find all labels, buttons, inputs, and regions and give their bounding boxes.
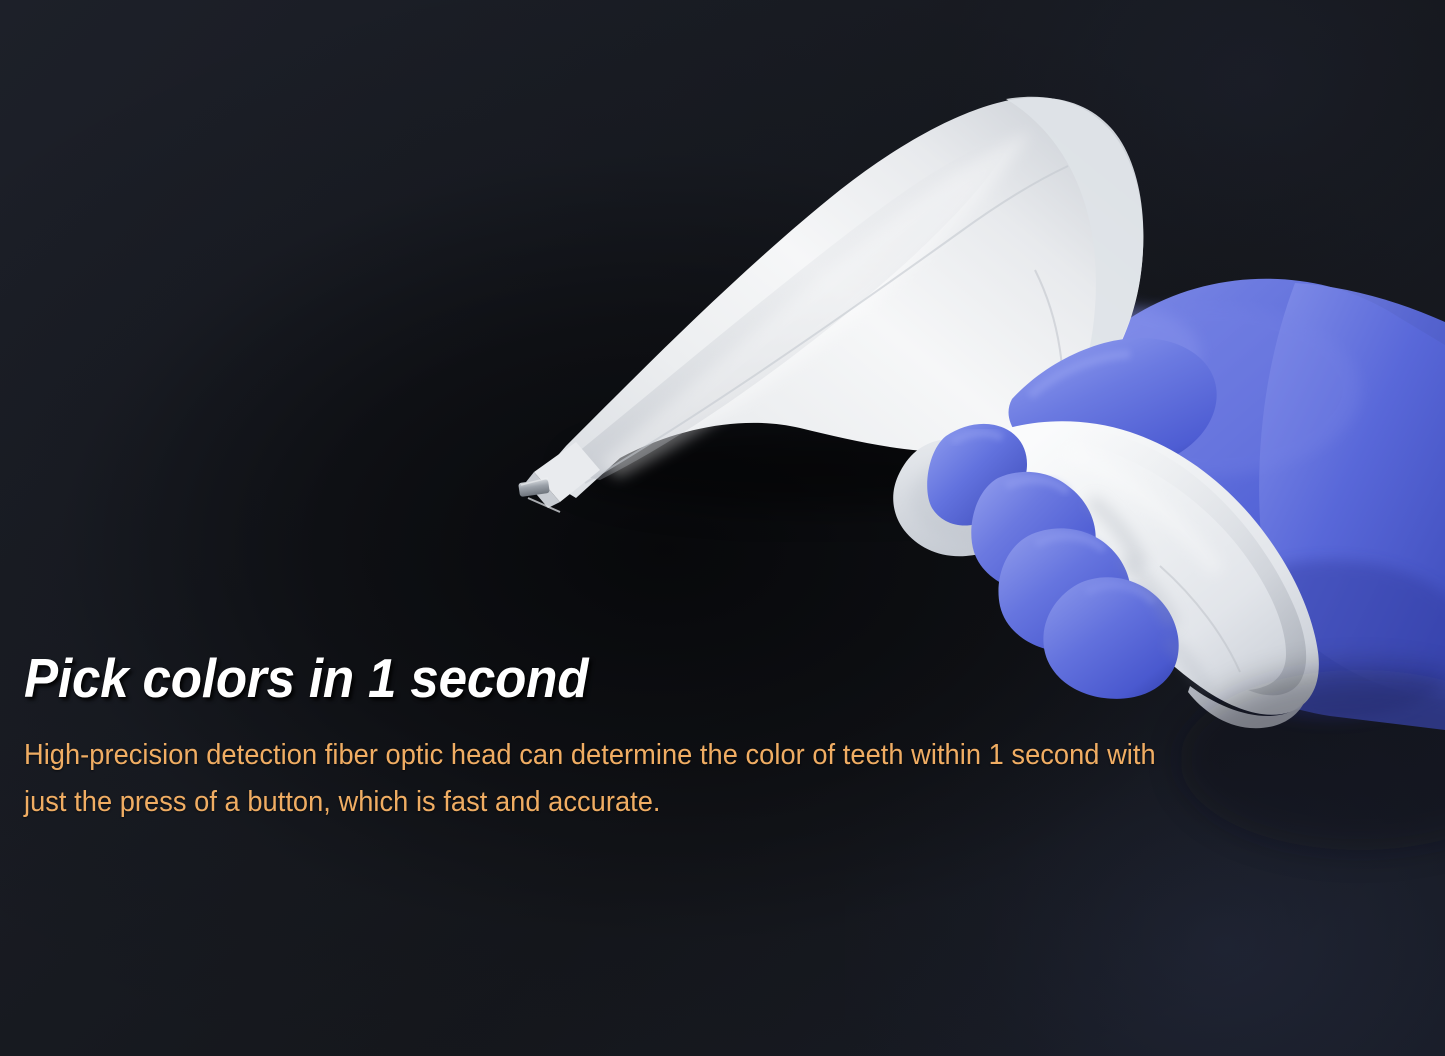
copy-block: Pick colors in 1 second High-precision d… [24,648,1234,826]
description-text: High-precision detection fiber optic hea… [24,732,1180,826]
background-vignette [0,0,1445,1056]
page-title: Pick colors in 1 second [24,648,1149,710]
product-banner: Pick colors in 1 second High-precision d… [0,0,1445,1056]
